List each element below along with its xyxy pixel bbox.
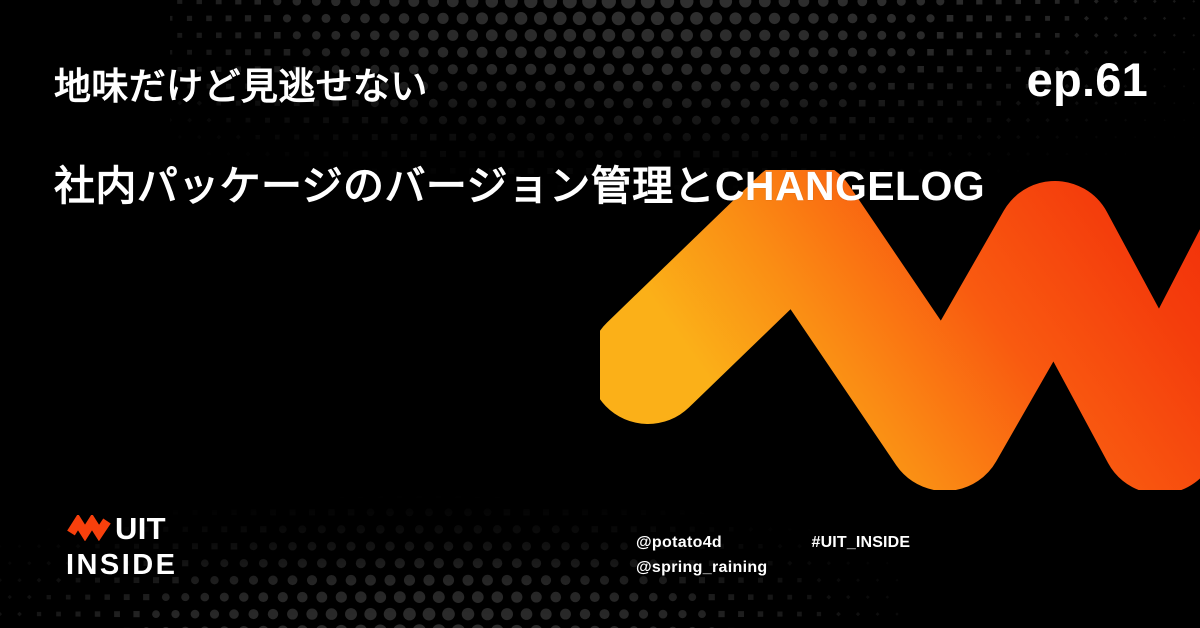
zigzag-mark-icon: [66, 515, 112, 541]
handle-1: @potato4d: [636, 533, 768, 552]
title-line-2: 社内パッケージのバージョン管理とCHANGELOG: [54, 160, 1094, 212]
handle-list: @potato4d @spring_raining: [636, 533, 768, 577]
hashtag: #UIT_INSIDE: [812, 533, 911, 552]
footer-credits: @potato4d @spring_raining #UIT_INSIDE: [636, 533, 910, 577]
zigzag-graphic: [600, 170, 1200, 490]
logo-top-row: UIT: [66, 512, 177, 544]
title-block: 地味だけど見逃せない 社内パッケージのバージョン管理とCHANGELOG: [54, 62, 1094, 212]
handle-2: @spring_raining: [636, 558, 768, 577]
title-line-1: 地味だけど見逃せない: [54, 62, 1094, 112]
logo-wordmark: UIT: [115, 513, 166, 544]
logo-subtitle: INSIDE: [66, 549, 177, 581]
brand-logo: UIT INSIDE: [66, 512, 177, 581]
episode-label: ep.61: [1027, 56, 1148, 103]
podcast-cover-card: 地味だけど見逃せない 社内パッケージのバージョン管理とCHANGELOG ep.…: [0, 0, 1200, 628]
